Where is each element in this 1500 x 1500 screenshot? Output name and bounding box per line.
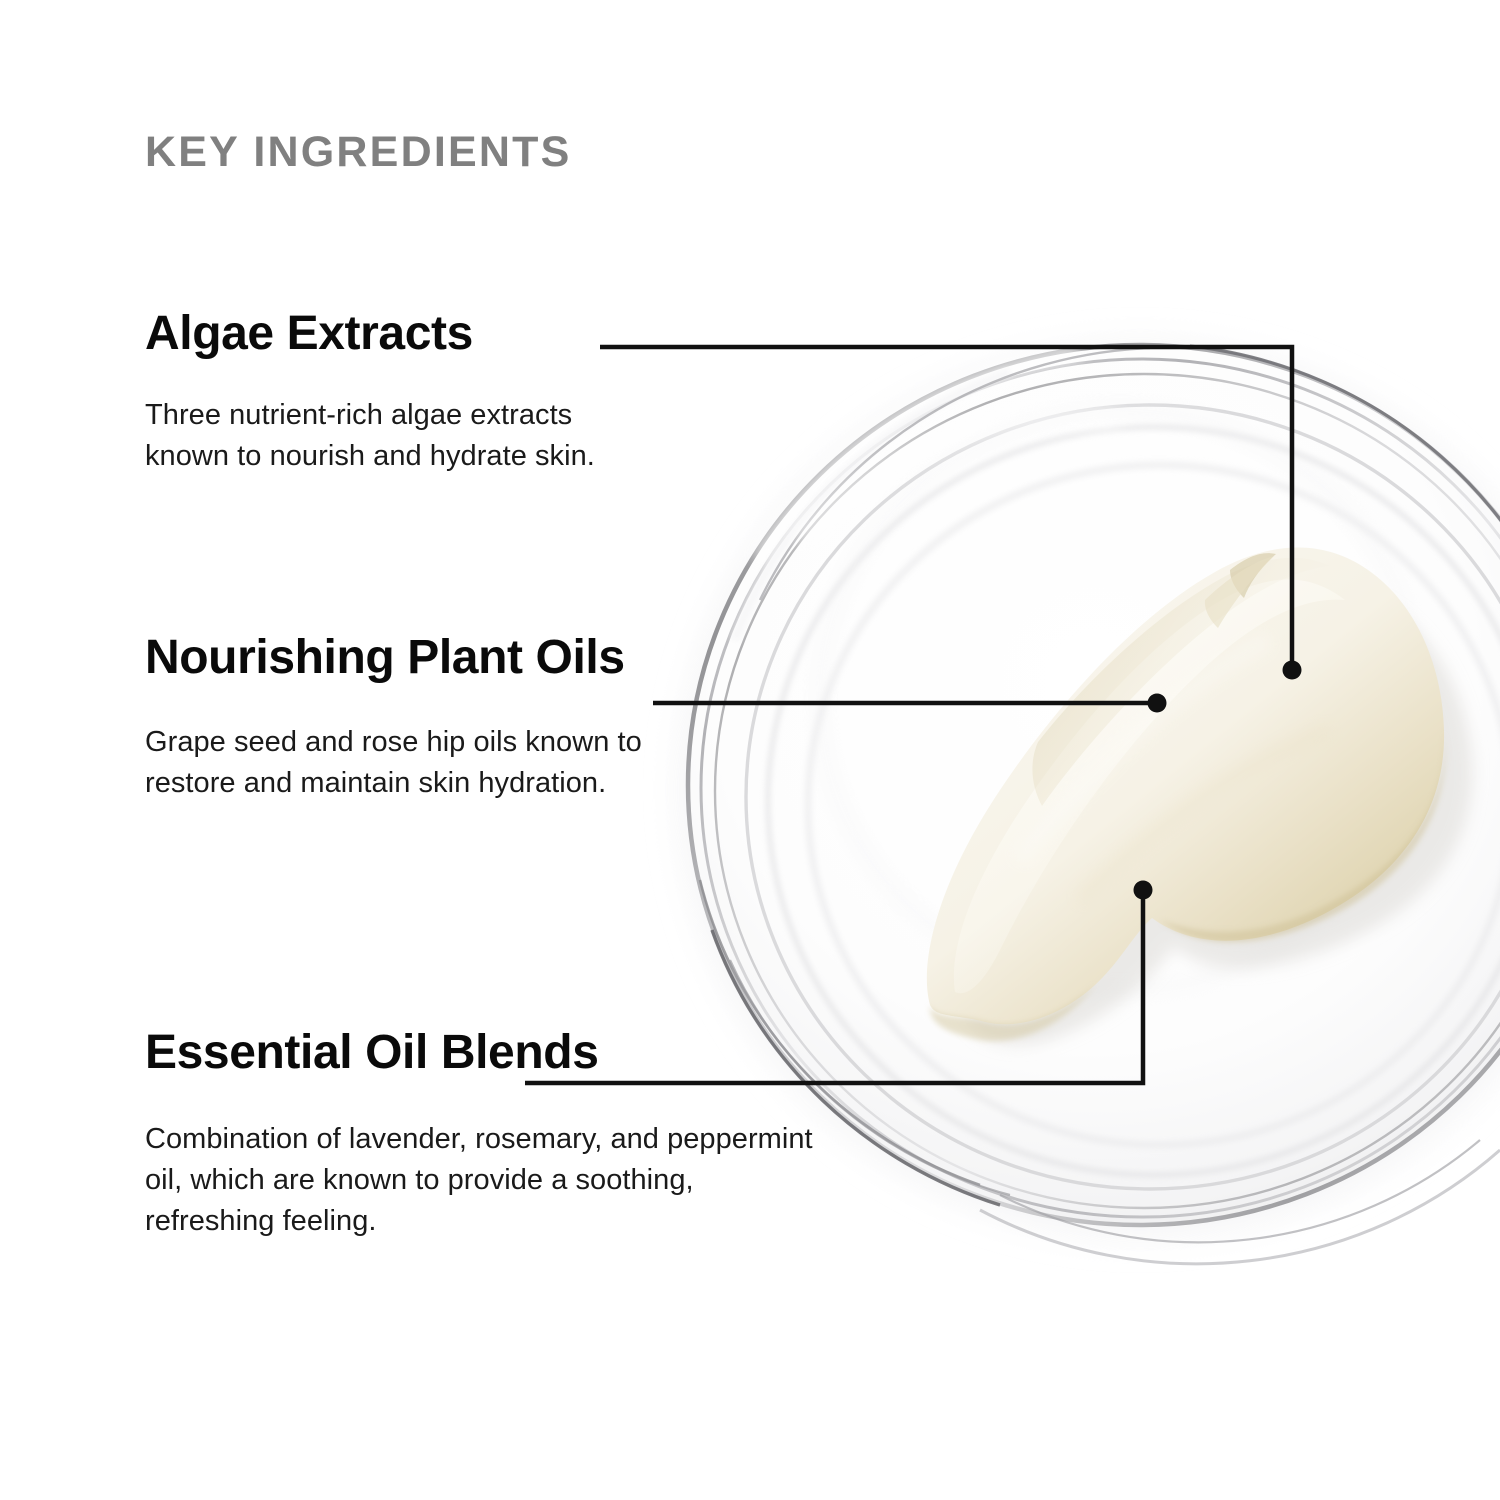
ingredient-description: Combination of lavender, rosemary, and p… bbox=[145, 1119, 825, 1243]
ingredient-block-nourishing-plant-oils: Nourishing Plant Oils Grape seed and ros… bbox=[145, 630, 645, 804]
ingredient-block-algae-extracts: Algae Extracts Three nutrient-rich algae… bbox=[145, 306, 615, 477]
leader-endpoint-dot bbox=[1283, 661, 1302, 680]
ingredient-description: Grape seed and rose hip oils known to re… bbox=[145, 722, 645, 804]
page-title: KEY INGREDIENTS bbox=[145, 131, 571, 174]
leader-endpoint-dot bbox=[1148, 694, 1167, 713]
ingredient-title: Essential Oil Blends bbox=[145, 1025, 825, 1081]
leader-endpoint-dot bbox=[1134, 881, 1153, 900]
ingredient-description: Three nutrient-rich algae extracts known… bbox=[145, 395, 615, 477]
ingredient-title: Nourishing Plant Oils bbox=[145, 630, 645, 686]
nourishing-plant-oils-leader bbox=[653, 694, 1167, 713]
algae-extracts-leader bbox=[600, 347, 1302, 680]
key-ingredients-infographic: KEY INGREDIENTS Algae Extracts Three nut… bbox=[0, 0, 1500, 1500]
ingredient-title: Algae Extracts bbox=[145, 306, 615, 362]
cream-swatch bbox=[927, 548, 1473, 1045]
ingredient-block-essential-oil-blends: Essential Oil Blends Combination of lave… bbox=[145, 1025, 825, 1242]
